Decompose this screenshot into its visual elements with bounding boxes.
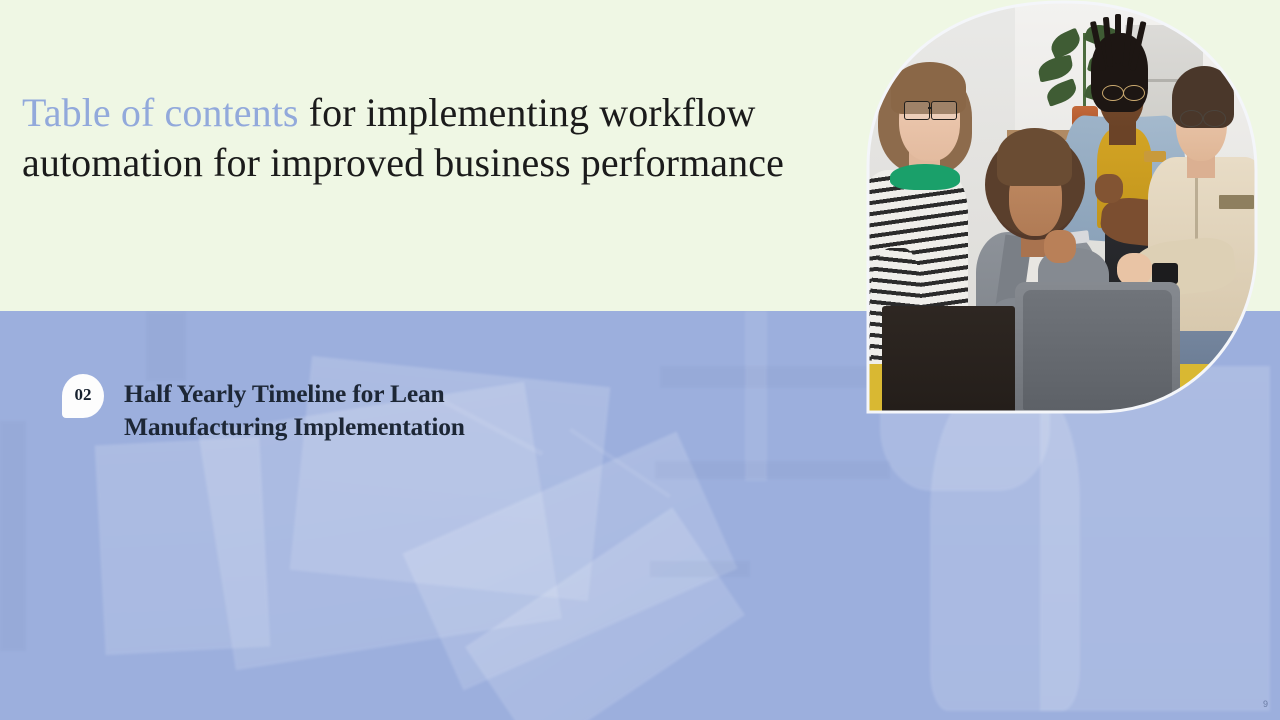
- photo-person4-smartwatch: [1152, 263, 1177, 284]
- photo-person3-glasses-left: [1102, 85, 1124, 101]
- badge-number: 02: [62, 374, 104, 418]
- photo-person1-glasses-right: [931, 101, 957, 120]
- photo-person3-bracelet: [1144, 151, 1166, 162]
- list-item[interactable]: 02 Half Yearly Timeline for Lean Manufac…: [62, 373, 762, 443]
- photo-person4-jacket-pocket: [1219, 195, 1254, 209]
- table-of-contents-list: 02 Half Yearly Timeline for Lean Manufac…: [62, 373, 762, 443]
- photo-person4-glasses-left: [1180, 110, 1203, 127]
- status-badge: 02: [62, 374, 104, 418]
- list-item-label: Half Yearly Timeline for Lean Manufactur…: [124, 373, 544, 443]
- photo-person1-glasses-left: [904, 101, 930, 120]
- team-collaboration-photo: [866, 0, 1258, 414]
- page-number: 9: [1263, 699, 1268, 709]
- photo-person2-hair-front: [997, 128, 1071, 186]
- photo-person1-glasses-bridge: [928, 107, 932, 109]
- hero-image-container: [866, 0, 1258, 414]
- page-title: Table of contents for implementing workf…: [22, 88, 852, 188]
- page-title-block: Table of contents for implementing workf…: [22, 88, 852, 188]
- page-title-accent: Table of contents: [22, 90, 299, 135]
- photo-person4-hand: [1117, 253, 1152, 286]
- photo-person2-hand: [1044, 230, 1075, 263]
- photo-person3-glasses-right: [1123, 85, 1145, 101]
- slide-canvas: Table of contents for implementing workf…: [0, 0, 1280, 720]
- photo-person4-glasses-right: [1203, 110, 1226, 127]
- photo-laptop-screen-back: [1023, 290, 1172, 410]
- photo-person1-green-collar: [890, 164, 961, 191]
- photo-person3-loc-strand: [1115, 14, 1121, 64]
- photo-monitor-back: [882, 306, 1015, 414]
- photo-person3-hand: [1095, 174, 1122, 203]
